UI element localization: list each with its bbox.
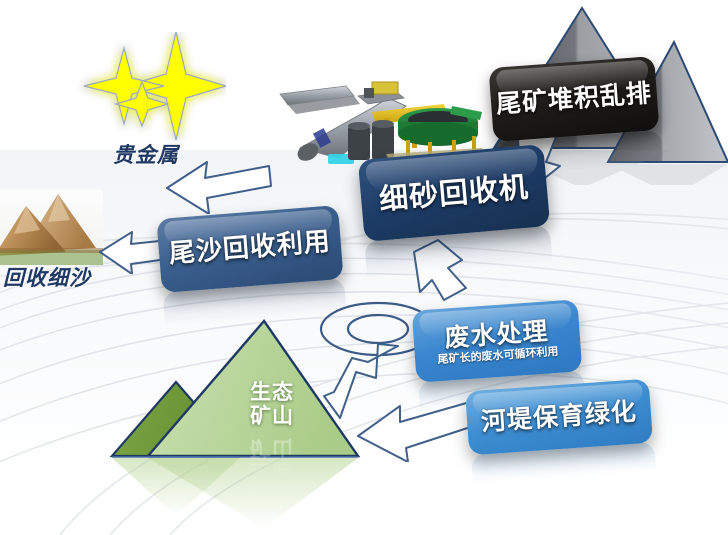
eco-mine-label-reflection: 生态 矿山	[237, 436, 307, 483]
node-waste-pile[interactable]: 尾矿堆积乱排	[489, 56, 660, 142]
sand-machine-label: 细砂回收机	[378, 171, 530, 214]
tailing-reuse-label: 尾沙回收利用	[168, 229, 332, 269]
node-river-green[interactable]: 河堤保育绿化	[465, 379, 653, 456]
river-green-label: 河堤保育绿化	[480, 398, 637, 435]
eco-mine-line2: 矿山	[237, 405, 307, 429]
eco-mine-refl-line2: 矿山	[237, 436, 307, 460]
precious-metal-label: 贵金属	[113, 139, 179, 169]
eco-mine-label: 生态 矿山	[237, 381, 307, 428]
sand-pile-icon	[0, 190, 103, 265]
recycled-sand-label: 回收细沙	[3, 262, 91, 292]
node-tailing-reuse[interactable]: 尾沙回收利用	[156, 205, 343, 293]
eco-mine-line1: 生态	[237, 381, 307, 405]
slide-canvas: 生态 矿山 生态 矿山 尾矿堆积乱排 细砂回收机	[0, 0, 728, 535]
waste-pile-label: 尾矿堆积乱排	[495, 80, 653, 118]
node-sand-machine[interactable]: 细砂回收机	[358, 144, 550, 242]
eco-mine-refl-line1: 生态	[237, 460, 307, 484]
arrow-machine-to-metal	[165, 152, 273, 214]
node-waste-water[interactable]: 废水处理 尾矿长的废水可循环利用	[412, 299, 583, 382]
star-sparkle-icon	[58, 32, 226, 147]
